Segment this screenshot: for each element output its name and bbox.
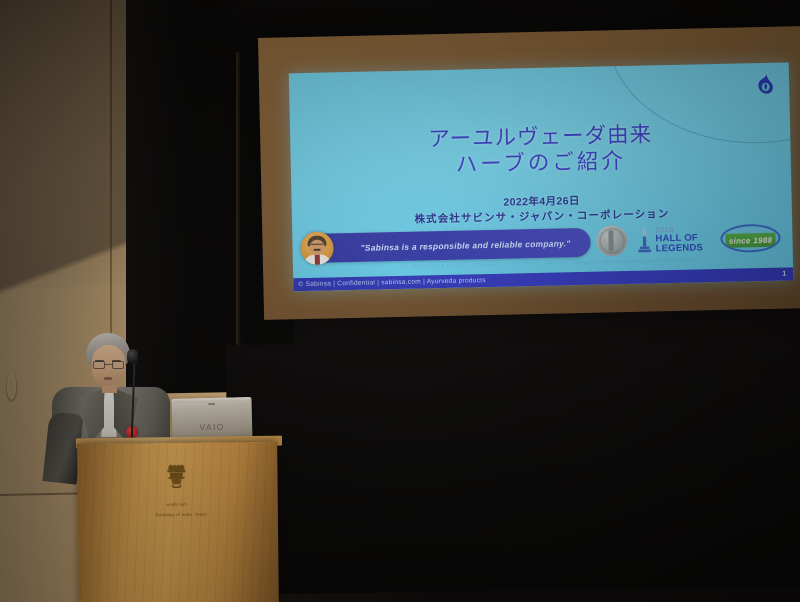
quote-banner: "Sabinsa is a responsible and reliable c… [302,228,591,263]
portrait-glasses [311,244,324,248]
hall-of-legends-line2: LEGENDS [656,243,704,254]
glasses-bridge [105,364,112,365]
podium: सत्यमेव जयते Embassy of India, Tokyo [77,442,279,602]
glasses-lens [93,361,105,369]
since-label: since 1988 [729,235,773,245]
microphone-icon [127,349,138,364]
since-band: since 1988 [725,233,775,248]
presentation-slide: アーユルヴェーダ由来 ハーブのご紹介 2022年4月26日 株式会社サビンサ・ジ… [289,62,794,291]
portrait-tie [315,255,320,265]
portrait-moustache [314,249,321,251]
torch-icon [636,226,653,253]
presentation-photo-scene: アーユルヴェーダ由来 ハーブのご紹介 2022年4月26日 株式会社サビンサ・ジ… [0,0,800,602]
founder-portrait-icon [300,231,334,265]
awards-row: 2016 HALL OF LEGENDS since 1988 [592,221,785,259]
door-handle-icon[interactable] [7,374,16,400]
since-1988-badge-icon: since 1988 [720,224,781,253]
projection-screen: アーユルヴェーダ由来 ハーブのご紹介 2022年4月26日 株式会社サビンサ・ジ… [258,26,800,320]
hall-of-legends-icon: 2016 HALL OF LEGENDS [636,224,709,256]
slide-footer-text: © Sabinsa | Confidential | sabinsa.com |… [293,277,486,288]
emblem-artwork [158,461,194,497]
laptop-camera-icon [208,403,215,405]
india-lion-capital-emblem-icon: सत्यमेव जयते Embassy of India, Tokyo [155,461,198,515]
sabinsa-droplet-logo-icon [755,73,775,95]
dark-lower-wall [226,336,800,595]
laptop-brand-logo: VAIO [172,421,252,433]
slide-title: アーユルヴェーダ由来 ハーブのご紹介 [290,118,791,181]
slide-page-number: 1 [782,271,786,278]
emblem-motto: सत्यमेव जयते [156,503,198,508]
speaker-glasses-icon [92,361,125,370]
speaker-mouth [104,377,112,380]
quote-text: "Sabinsa is a responsible and reliable c… [360,228,581,262]
ellis-island-medal-icon [596,225,628,257]
dark-wall-edge [236,0,241,394]
glasses-lens [112,361,124,369]
emblem-organization: Embassy of India, Tokyo [156,512,198,517]
